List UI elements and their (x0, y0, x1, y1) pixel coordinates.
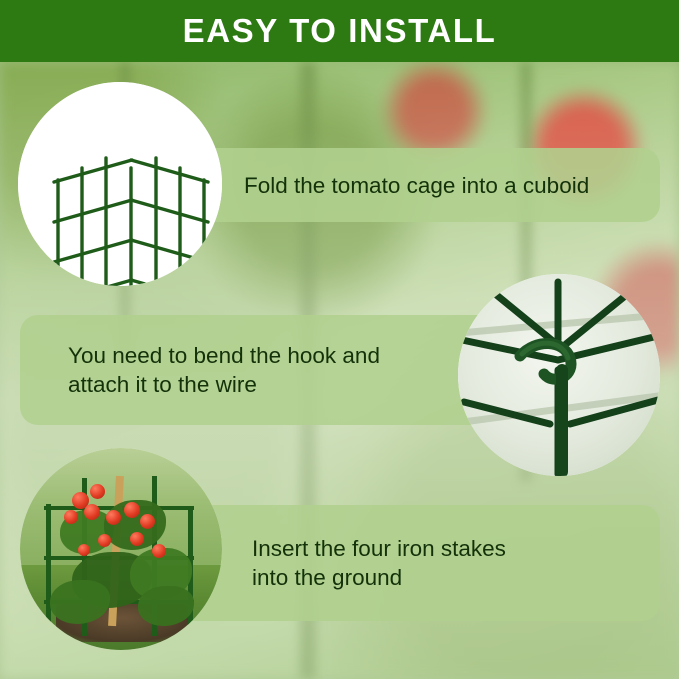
tomato-fruit (106, 510, 121, 525)
tomato-fruit (124, 502, 140, 518)
cage-rod (46, 504, 51, 634)
hook-closeup-photo (458, 274, 660, 476)
step-2-text: You need to bend the hook and attach it … (68, 341, 380, 399)
page-title: EASY TO INSTALL (0, 0, 679, 62)
tomato-fruit (90, 484, 105, 499)
product-infographic: EASY TO INSTALL Fold the tomato cage int… (0, 0, 679, 679)
tomato-fruit (98, 534, 111, 547)
tomato-plant-in-cage-photo (20, 448, 222, 650)
folded-cage-diagram (18, 82, 222, 286)
step-3-text: Insert the four iron stakes into the gro… (252, 534, 506, 592)
hook-detail-icon (458, 274, 660, 476)
tomato-fruit (152, 544, 166, 558)
plant-scene (20, 448, 222, 650)
cage-line-drawing-icon (18, 82, 222, 286)
tomato-fruit (84, 504, 100, 520)
tomato-fruit (78, 544, 90, 556)
tomato-fruit (130, 532, 144, 546)
tomato-fruit (140, 514, 155, 529)
step-1-text: Fold the tomato cage into a cuboid (244, 171, 589, 200)
tomato-fruit (64, 510, 78, 524)
